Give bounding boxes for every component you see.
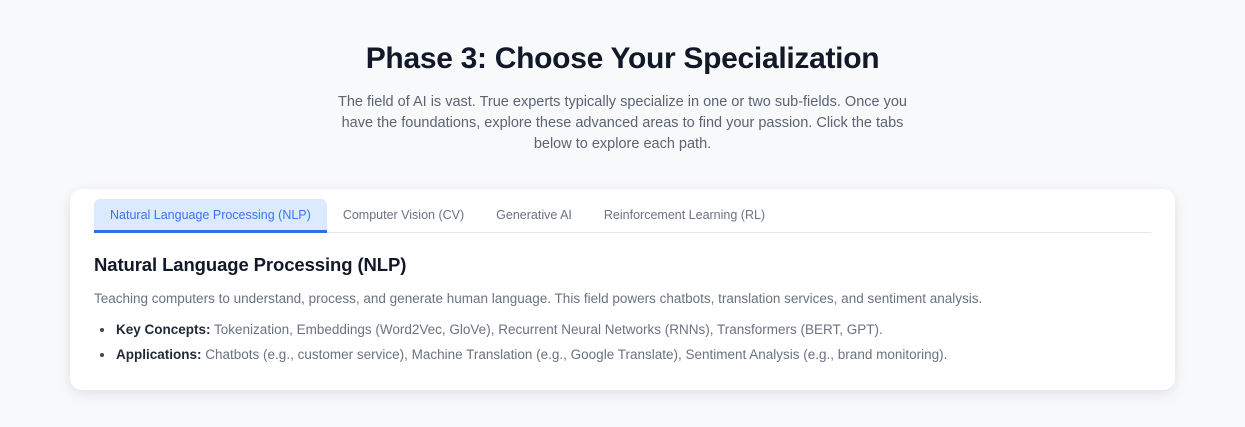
tab-reinforcement-learning[interactable]: Reinforcement Learning (RL) xyxy=(588,199,781,233)
tab-label: Generative AI xyxy=(496,208,572,222)
tab-label: Natural Language Processing (NLP) xyxy=(110,208,311,222)
list-item: Applications: Chatbots (e.g., customer s… xyxy=(94,345,1151,365)
tab-panel-nlp: Natural Language Processing (NLP) Teachi… xyxy=(70,233,1175,365)
specialization-card: Natural Language Processing (NLP) Comput… xyxy=(70,189,1175,390)
panel-detail-list: Key Concepts: Tokenization, Embeddings (… xyxy=(94,320,1151,365)
list-item-label: Key Concepts: xyxy=(116,322,211,337)
tab-bar: Natural Language Processing (NLP) Comput… xyxy=(94,189,1151,233)
tab-label: Reinforcement Learning (RL) xyxy=(604,208,765,222)
tab-label: Computer Vision (CV) xyxy=(343,208,464,222)
page-root: Phase 3: Choose Your Specialization The … xyxy=(0,0,1245,427)
page-header: Phase 3: Choose Your Specialization The … xyxy=(0,0,1245,155)
tab-computer-vision[interactable]: Computer Vision (CV) xyxy=(327,199,480,233)
list-item-text: Tokenization, Embeddings (Word2Vec, GloV… xyxy=(211,322,883,337)
page-title: Phase 3: Choose Your Specialization xyxy=(0,41,1245,77)
list-item: Key Concepts: Tokenization, Embeddings (… xyxy=(94,320,1151,340)
page-subtitle: The field of AI is vast. True experts ty… xyxy=(332,92,914,155)
tab-generative-ai[interactable]: Generative AI xyxy=(480,199,588,233)
tab-natural-language-processing[interactable]: Natural Language Processing (NLP) xyxy=(94,199,327,233)
panel-description: Teaching computers to understand, proces… xyxy=(94,289,1151,309)
panel-title: Natural Language Processing (NLP) xyxy=(94,253,1151,277)
list-item-text: Chatbots (e.g., customer service), Machi… xyxy=(202,347,948,362)
list-item-label: Applications: xyxy=(116,347,202,362)
